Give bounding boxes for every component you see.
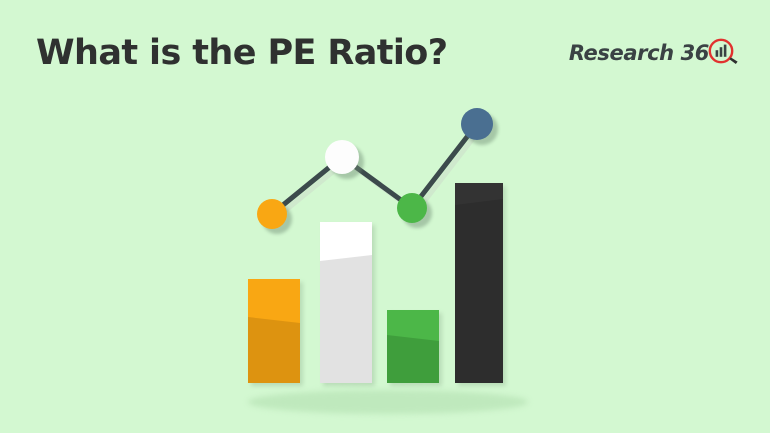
point-green <box>397 193 427 223</box>
point-orange <box>257 199 287 229</box>
trend-line <box>0 0 770 433</box>
point-blue <box>461 108 493 140</box>
bar-chart-illustration <box>0 0 770 433</box>
point-white <box>325 140 359 174</box>
infographic-canvas: What is the PE Ratio? Research 36 <box>0 0 770 433</box>
